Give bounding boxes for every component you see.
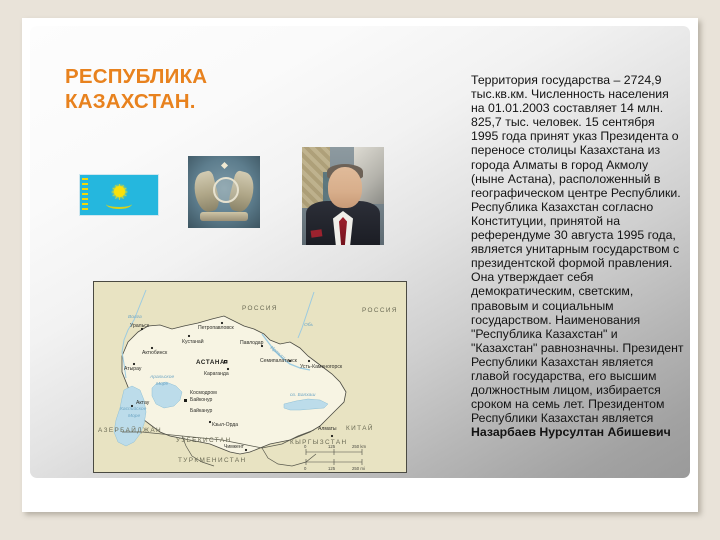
- map-water-label: Каспийское: [120, 405, 147, 412]
- map-water-label: оз. Балхаш: [290, 392, 315, 398]
- map-svg: РОССИЯ РОССИЯ КИТАЙ УЗБЕКИСТАН КЫРГЫЗСТА…: [94, 282, 406, 472]
- map-city-label: Атырау: [124, 366, 142, 372]
- map-city-label: Караганда: [204, 371, 229, 377]
- map-country-label: РОССИЯ: [362, 307, 398, 314]
- map-city-dot: [188, 335, 190, 337]
- president-portrait-image: [302, 147, 384, 245]
- map-capital-marker-center: [225, 361, 226, 362]
- flag-eagle: [106, 199, 132, 209]
- map-city-dot: [151, 347, 153, 349]
- coat-of-arms-shanyrak: [213, 177, 239, 203]
- portrait-head: [328, 167, 362, 208]
- map-city-label: Байконур: [190, 396, 212, 403]
- body-text-block: Территория государства – 2724,9 тыс.кв.к…: [471, 73, 684, 439]
- map-city-label: Семипалатинск: [260, 358, 298, 364]
- map-city-dot: [209, 421, 211, 423]
- map-city-label: Петропавловск: [198, 325, 235, 331]
- map-capital-label: АСТАНА: [196, 359, 225, 366]
- map-city-label: Актау: [136, 400, 150, 406]
- map-country-label: РОССИЯ: [242, 305, 278, 312]
- map-scale-tick: 125: [328, 444, 336, 449]
- map-city-dot: [221, 322, 223, 324]
- map-city-dot: [308, 360, 310, 362]
- coat-of-arms-image: [188, 156, 260, 228]
- president-name: Назарбаев Нурсултан Абишевич: [471, 425, 671, 439]
- map-country-label: ТУРКМЕНИСТАН: [178, 457, 247, 464]
- slide-frame: РЕСПУБЛИКА КАЗАХСТАН. Территория государ…: [22, 18, 698, 512]
- body-paragraph-2: Республика Казахстан согласно Конституци…: [471, 200, 679, 355]
- flag-ornament: [82, 178, 88, 212]
- map-country-label: АЗЕРБАЙДЖАН: [98, 425, 162, 434]
- map-water-label: Волга: [128, 314, 142, 320]
- map-city-label: Кзыл-Орда: [212, 422, 238, 428]
- page-title: РЕСПУБЛИКА КАЗАХСТАН.: [65, 64, 395, 114]
- coat-of-arms-base: [200, 212, 248, 221]
- map-city-dot: [227, 368, 229, 370]
- map-country-label: КЫРГЫЗСТАН: [290, 439, 348, 446]
- map-city-dot: [245, 449, 247, 451]
- map-city-label: Павлодар: [240, 340, 264, 346]
- map-city-dot: [133, 363, 135, 365]
- map-city-label: Кустанай: [182, 338, 204, 345]
- map-city-label: Алматы: [318, 426, 337, 432]
- map-baikonur-marker: [184, 399, 187, 402]
- map-water-label: Море: [128, 413, 141, 419]
- map-scale-tick: 250 km: [352, 444, 367, 449]
- map-city-label: Уральск: [130, 323, 150, 329]
- map-water-label: Обь: [304, 322, 314, 328]
- map-city-dot: [331, 435, 333, 437]
- body-paragraph-1: Территория государства – 2724,9 тыс.кв.к…: [471, 73, 681, 200]
- slide-canvas: РЕСПУБЛИКА КАЗАХСТАН. Территория государ…: [30, 26, 690, 478]
- kazakhstan-map-image: РОССИЯ РОССИЯ КИТАЙ УЗБЕКИСТАН КЫРГЫЗСТА…: [93, 281, 407, 473]
- map-city-label: Чимкент: [224, 444, 245, 450]
- flag-sun: [114, 186, 125, 197]
- map-country-label: КИТАЙ: [346, 423, 374, 432]
- map-city-label: Байканур: [190, 407, 212, 414]
- map-scale-tick: 250 mi: [352, 466, 365, 471]
- map-water-label: Аральское: [149, 374, 174, 380]
- map-city-label: Актюбинск: [142, 350, 168, 356]
- map-country-label: УЗБЕКИСТАН: [176, 437, 232, 444]
- kazakhstan-flag-image: [79, 174, 159, 216]
- coat-of-arms-star: [220, 162, 227, 169]
- map-city-dot: [131, 405, 133, 407]
- map-water-label: Море: [156, 381, 169, 387]
- map-city-label: Усть-Каменогорск: [300, 364, 343, 370]
- map-city-label: Космодром: [190, 390, 217, 396]
- map-scale-tick: 125: [328, 466, 336, 471]
- slide-bottom-band: [30, 478, 690, 504]
